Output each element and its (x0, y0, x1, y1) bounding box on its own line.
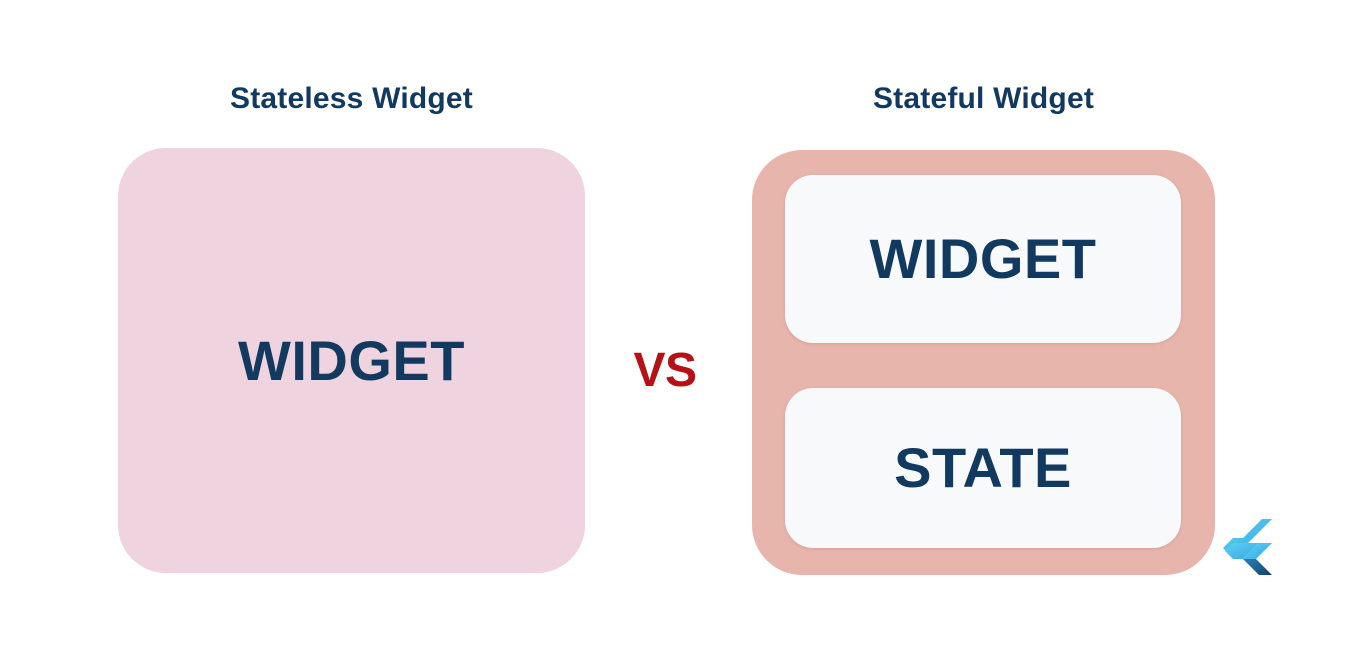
stateful-inner-box-widget: WIDGET (785, 175, 1181, 343)
stateful-widget-label: WIDGET (870, 231, 1097, 287)
stateless-widget-label: WIDGET (238, 333, 465, 389)
stateful-widget-card: WIDGET STATE (752, 150, 1215, 575)
diagram-canvas: Stateless Widget WIDGET VS Stateful Widg… (0, 0, 1348, 670)
flutter-logo-icon (1221, 518, 1273, 576)
stateless-widget-title: Stateless Widget (118, 84, 585, 114)
stateful-inner-box-state: STATE (785, 388, 1181, 548)
versus-label: VS (600, 347, 730, 395)
flutter-logo (1221, 518, 1273, 576)
stateful-state-label: STATE (894, 440, 1072, 496)
stateful-widget-title: Stateful Widget (752, 84, 1215, 114)
stateless-widget-card: WIDGET (118, 148, 585, 573)
